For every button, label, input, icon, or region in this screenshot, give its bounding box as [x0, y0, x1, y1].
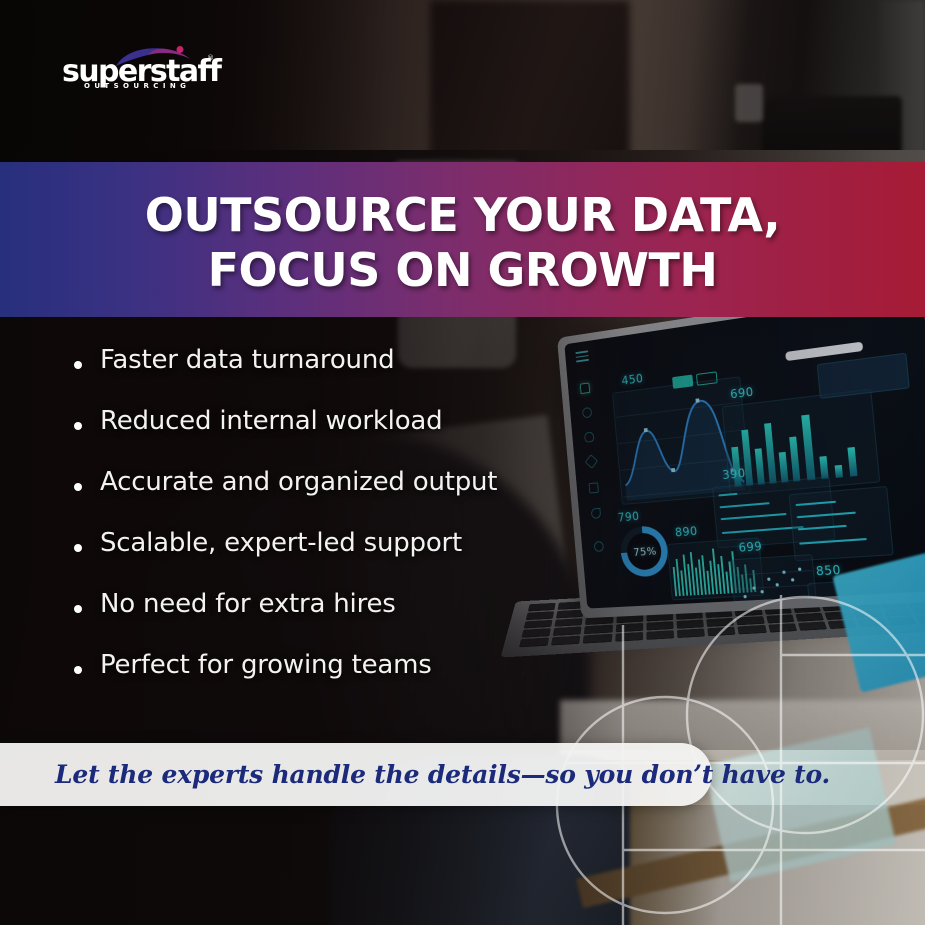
headline-line-2: FOCUS ON GROWTH	[0, 243, 925, 298]
tagline-banner: Let the experts handle the details—so yo…	[0, 743, 712, 806]
list-item: Faster data turnaround	[0, 345, 560, 406]
bullet-dot-icon	[74, 361, 82, 369]
logo-subtitle: OUTSOURCING	[84, 82, 190, 90]
tagline-text: Let the experts handle the details—so yo…	[55, 743, 830, 806]
benefits-list: Faster data turnaround Reduced internal …	[0, 345, 560, 711]
list-item: Accurate and organized output	[0, 467, 560, 528]
list-item: No need for extra hires	[0, 589, 560, 650]
benefit-label: Faster data turnaround	[100, 345, 394, 375]
bullet-dot-icon	[74, 605, 82, 613]
bullet-dot-icon	[74, 483, 82, 491]
brand-logo: superstaff ® OUTSOURCING	[62, 46, 222, 88]
benefit-label: Scalable, expert-led support	[100, 528, 462, 558]
page-title: OUTSOURCE YOUR DATA, FOCUS ON GROWTH	[0, 188, 925, 298]
bullet-dot-icon	[74, 666, 82, 674]
benefit-label: Accurate and organized output	[100, 467, 497, 497]
photo-scrim-bottom	[0, 805, 925, 925]
list-item: Scalable, expert-led support	[0, 528, 560, 589]
benefit-label: Perfect for growing teams	[100, 650, 432, 680]
list-item: Reduced internal workload	[0, 406, 560, 467]
headline-band: OUTSOURCE YOUR DATA, FOCUS ON GROWTH	[0, 162, 925, 317]
bullet-dot-icon	[74, 422, 82, 430]
list-item: Perfect for growing teams	[0, 650, 560, 711]
bullet-dot-icon	[74, 544, 82, 552]
registered-mark: ®	[207, 54, 214, 62]
benefit-label: No need for extra hires	[100, 589, 396, 619]
headline-line-1: OUTSOURCE YOUR DATA,	[0, 188, 925, 243]
benefit-label: Reduced internal workload	[100, 406, 442, 436]
marketing-poster: 450	[0, 0, 925, 925]
